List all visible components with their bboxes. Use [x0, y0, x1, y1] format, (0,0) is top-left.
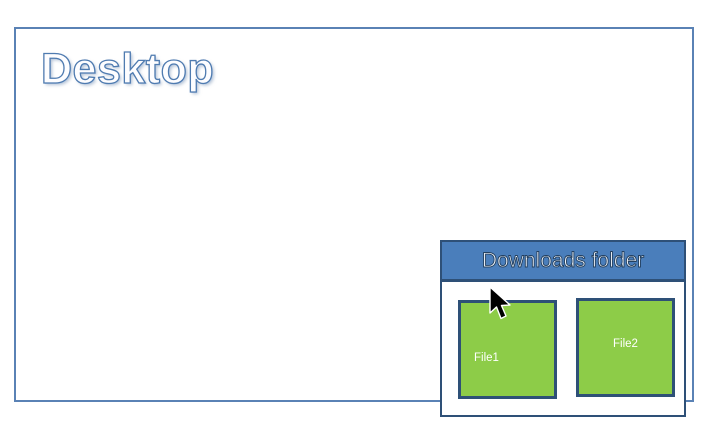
- file-label-file1: File1: [474, 353, 499, 365]
- page-title: Desktop: [41, 48, 214, 91]
- folder-title-label: Downloads folder: [482, 250, 644, 271]
- file-label-file2: File2: [579, 339, 672, 351]
- file-tile-file2[interactable]: File2: [576, 298, 675, 397]
- file-tile-file1[interactable]: File1: [458, 300, 557, 399]
- folder-title-bar[interactable]: Downloads folder: [440, 240, 686, 281]
- folder-body: File1 File2: [440, 280, 686, 417]
- downloads-folder-window[interactable]: Downloads folder File1 File2: [440, 240, 686, 417]
